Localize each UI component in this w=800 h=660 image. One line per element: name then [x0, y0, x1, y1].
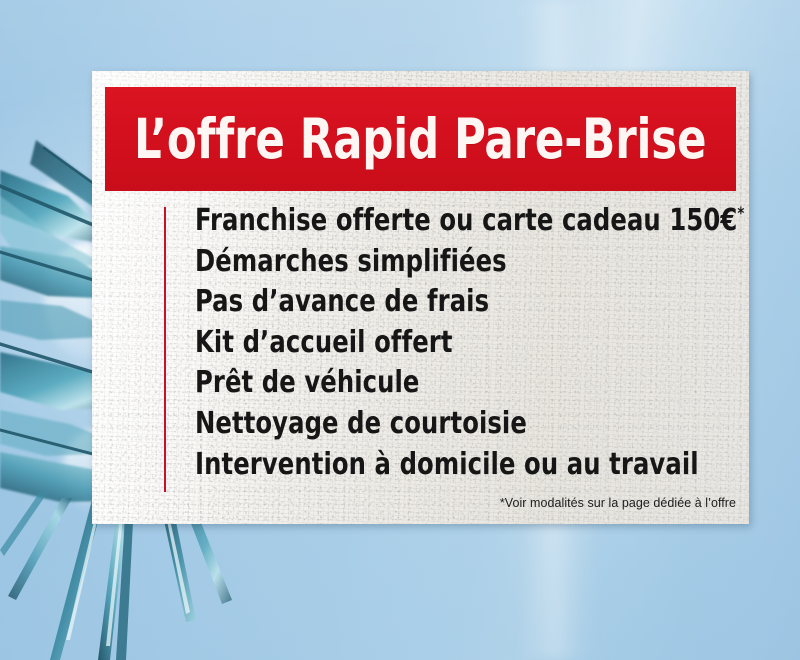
title-banner: L’offre Rapid Pare-Brise: [105, 87, 736, 191]
footnote-marker: *: [737, 204, 744, 223]
red-vertical-rule: [164, 207, 166, 492]
list-item: Intervention à domicile ou au travail: [195, 445, 686, 486]
list-item: Pas d’avance de frais: [195, 282, 686, 323]
benefit-text: Kit d’accueil offert: [195, 325, 453, 360]
page-title: L’offre Rapid Pare-Brise: [134, 112, 706, 167]
benefit-text: Prêt de véhicule: [195, 365, 420, 400]
poster-canvas: L’offre Rapid Pare-Brise Franchise offer…: [0, 0, 800, 660]
benefit-text: Nettoyage de courtoisie: [195, 406, 527, 441]
list-item: Nettoyage de courtoisie: [195, 404, 686, 445]
offer-card: L’offre Rapid Pare-Brise Franchise offer…: [92, 71, 749, 524]
benefit-text: Franchise offerte ou carte cadeau 150€: [195, 203, 737, 238]
benefits-list: Franchise offerte ou carte cadeau 150€* …: [195, 201, 740, 485]
list-item: Prêt de véhicule: [195, 363, 686, 404]
footnote-text: *Voir modalités sur la page dédiée à l’o…: [500, 496, 736, 510]
benefit-text: Pas d’avance de frais: [195, 284, 489, 319]
list-item: Démarches simplifiées: [195, 242, 686, 283]
list-item: Franchise offerte ou carte cadeau 150€*: [195, 201, 686, 242]
benefit-text: Démarches simplifiées: [195, 244, 507, 279]
benefit-text: Intervention à domicile ou au travail: [195, 447, 699, 482]
list-item: Kit d’accueil offert: [195, 323, 686, 364]
